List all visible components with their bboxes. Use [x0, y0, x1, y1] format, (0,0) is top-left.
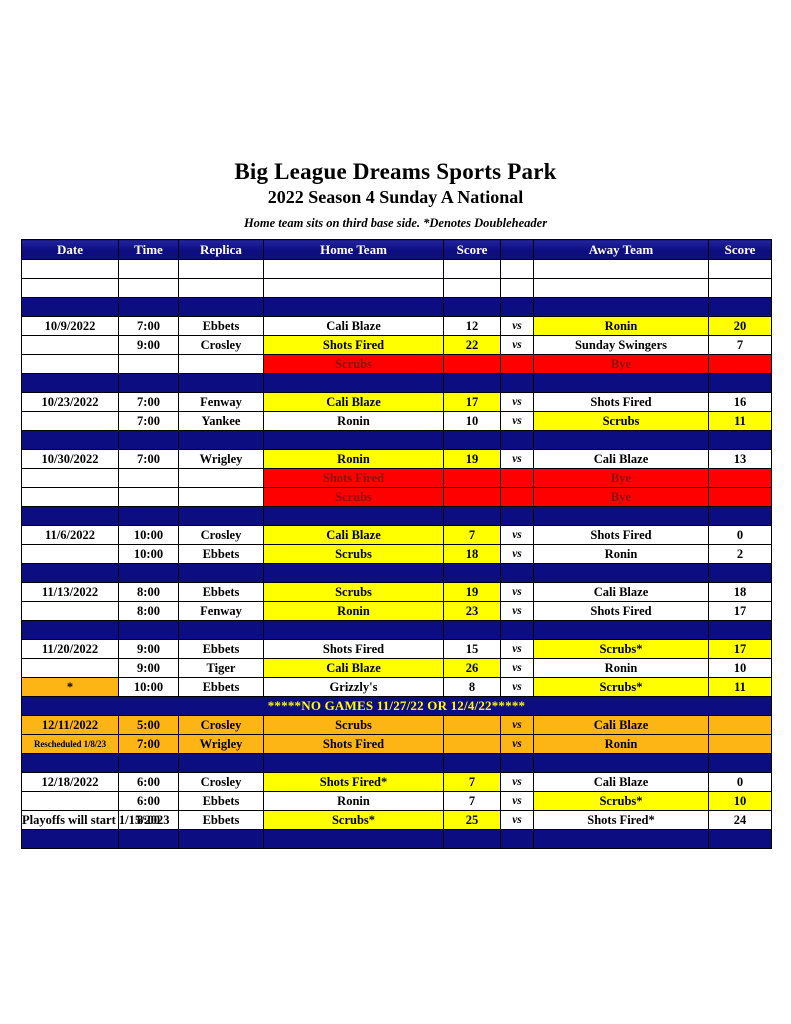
cell-away-team: Cali Blaze	[534, 450, 709, 469]
divider-cell	[709, 507, 772, 526]
divider-cell	[444, 507, 501, 526]
cell-home-score	[444, 488, 501, 507]
table-row: Scrubs Bye	[22, 488, 772, 507]
table-row: 9:00CrosleyShots Fired22vsSunday Swinger…	[22, 336, 772, 355]
cell-date	[22, 469, 119, 488]
cell-home-team: Shots Fired	[264, 735, 444, 754]
cell-home-team: Cali Blaze	[264, 317, 444, 336]
column-header-away-score: Score	[709, 240, 772, 260]
cell-home-score	[444, 355, 501, 374]
cell-replica: Ebbets	[179, 640, 264, 659]
cell-replica: Crosley	[179, 336, 264, 355]
cell-away-score	[709, 469, 772, 488]
cell-vs: vs	[501, 583, 534, 602]
divider-cell	[264, 754, 444, 773]
cell-date: 12/11/2022	[22, 716, 119, 735]
cell-time: 8:00	[119, 602, 179, 621]
cell-away-score: 16	[709, 393, 772, 412]
cell-vs: vs	[501, 450, 534, 469]
cell-away-score: 17	[709, 602, 772, 621]
cell-date	[22, 488, 119, 507]
cell-away-team: Bye	[534, 469, 709, 488]
divider-cell	[22, 298, 119, 317]
cell-vs: vs	[501, 317, 534, 336]
cell-replica: Ebbets	[179, 792, 264, 811]
cell-time: 6:00	[119, 792, 179, 811]
cell-home-score: 12	[444, 317, 501, 336]
table-row: 7:00YankeeRonin10vsScrubs11	[22, 412, 772, 431]
cell-replica: Crosley	[179, 716, 264, 735]
divider-cell	[534, 298, 709, 317]
cell-away-score: 11	[709, 678, 772, 697]
divider-row	[22, 431, 772, 450]
table-row: *10:00EbbetsGrizzly's8vsScrubs*11	[22, 678, 772, 697]
column-header-away-team: Away Team	[534, 240, 709, 260]
cell-away-score	[709, 716, 772, 735]
divider-cell	[119, 298, 179, 317]
table-row: 10/9/20227:00EbbetsCali Blaze12vsRonin20	[22, 317, 772, 336]
cell-away-score: 0	[709, 773, 772, 792]
cell-home-score: 15	[444, 640, 501, 659]
cell-vs: vs	[501, 602, 534, 621]
cell-vs	[501, 469, 534, 488]
cell-away-score	[709, 355, 772, 374]
column-header-time: Time	[119, 240, 179, 260]
page-title: Big League Dreams Sports Park	[0, 158, 791, 185]
blank-cell	[444, 260, 501, 279]
blank-cell	[709, 260, 772, 279]
divider-cell	[501, 431, 534, 450]
divider-cell	[264, 374, 444, 393]
no-games-banner-row: *****NO GAMES 11/27/22 OR 12/4/22*****	[22, 697, 772, 716]
cell-home-score: 7	[444, 773, 501, 792]
divider-cell	[119, 374, 179, 393]
blank-row	[22, 260, 772, 279]
cell-home-score: 7	[444, 792, 501, 811]
divider-cell	[501, 754, 534, 773]
blank-cell	[534, 279, 709, 298]
cell-home-team: Shots Fired	[264, 336, 444, 355]
cell-time: 10:00	[119, 678, 179, 697]
divider-cell	[444, 621, 501, 640]
column-header-date: Date	[22, 240, 119, 260]
table-row: 6:00EbbetsRonin7vsScrubs*10	[22, 792, 772, 811]
cell-home-team: Scrubs	[264, 583, 444, 602]
cell-replica	[179, 469, 264, 488]
divider-cell	[22, 507, 119, 526]
schedule-page: Big League Dreams Sports Park 2022 Seaso…	[0, 0, 791, 1024]
cell-away-score: 20	[709, 317, 772, 336]
cell-away-team: Cali Blaze	[534, 583, 709, 602]
divider-cell	[444, 564, 501, 583]
divider-cell	[264, 431, 444, 450]
blank-cell	[264, 279, 444, 298]
divider-cell	[179, 507, 264, 526]
cell-replica: Tiger	[179, 659, 264, 678]
divider-row	[22, 298, 772, 317]
divider-cell	[22, 564, 119, 583]
table-row: 11/6/202210:00CrosleyCali Blaze7vsShots …	[22, 526, 772, 545]
cell-replica: Wrigley	[179, 735, 264, 754]
cell-vs: vs	[501, 792, 534, 811]
blank-cell	[119, 279, 179, 298]
cell-away-team: Shots Fired	[534, 602, 709, 621]
divider-cell	[444, 298, 501, 317]
cell-home-score: 26	[444, 659, 501, 678]
cell-vs: vs	[501, 735, 534, 754]
cell-time: 7:00	[119, 735, 179, 754]
cell-time: 9:00	[119, 640, 179, 659]
cell-date: Rescheduled 1/8/23	[22, 735, 119, 754]
cell-away-score	[709, 488, 772, 507]
page-header: Big League Dreams Sports Park 2022 Seaso…	[0, 158, 791, 232]
cell-away-score: 24	[709, 811, 772, 830]
blank-cell	[501, 279, 534, 298]
page-subtitle: 2022 Season 4 Sunday A National	[0, 186, 791, 209]
cell-time: 6:00	[119, 773, 179, 792]
cell-time	[119, 469, 179, 488]
cell-date: *	[22, 678, 119, 697]
divider-row	[22, 754, 772, 773]
cell-time: 7:00	[119, 450, 179, 469]
cell-home-score: 25	[444, 811, 501, 830]
blank-cell	[709, 279, 772, 298]
divider-cell	[534, 374, 709, 393]
cell-date: 10/30/2022	[22, 450, 119, 469]
blank-cell	[444, 279, 501, 298]
divider-cell	[119, 507, 179, 526]
cell-home-score	[444, 716, 501, 735]
cell-away-score: 13	[709, 450, 772, 469]
divider-cell	[501, 507, 534, 526]
cell-away-team: Scrubs*	[534, 640, 709, 659]
cell-home-team: Cali Blaze	[264, 526, 444, 545]
table-row: Scrubs Bye	[22, 355, 772, 374]
no-games-banner-text: *****NO GAMES 11/27/22 OR 12/4/22*****	[22, 697, 772, 716]
cell-away-score: 2	[709, 545, 772, 564]
divider-cell	[179, 298, 264, 317]
table-row: 8:00FenwayRonin23vsShots Fired17	[22, 602, 772, 621]
table-row: 12/18/20226:00CrosleyShots Fired*7vsCali…	[22, 773, 772, 792]
table-row: 11/20/20229:00EbbetsShots Fired15vsScrub…	[22, 640, 772, 659]
cell-away-team: Scrubs	[534, 412, 709, 431]
cell-home-score: 17	[444, 393, 501, 412]
divider-cell	[501, 621, 534, 640]
cell-date	[22, 412, 119, 431]
cell-away-team: Shots Fired	[534, 393, 709, 412]
cell-vs	[501, 355, 534, 374]
column-header-vs	[501, 240, 534, 260]
divider-row	[22, 374, 772, 393]
cell-home-team: Scrubs	[264, 488, 444, 507]
cell-home-team: Cali Blaze	[264, 659, 444, 678]
cell-home-team: Ronin	[264, 450, 444, 469]
cell-time: 8:00	[119, 583, 179, 602]
cell-away-score: 10	[709, 792, 772, 811]
cell-vs: vs	[501, 659, 534, 678]
divider-cell	[709, 431, 772, 450]
cell-vs: vs	[501, 545, 534, 564]
blank-cell	[534, 260, 709, 279]
cell-home-team: Cali Blaze	[264, 393, 444, 412]
divider-cell	[709, 621, 772, 640]
divider-cell	[179, 754, 264, 773]
page-note: Home team sits on third base side. *Deno…	[0, 214, 791, 232]
blank-cell	[119, 260, 179, 279]
cell-away-score: 0	[709, 526, 772, 545]
cell-vs: vs	[501, 412, 534, 431]
divider-cell	[119, 830, 179, 849]
cell-replica: Ebbets	[179, 317, 264, 336]
divider-cell	[534, 621, 709, 640]
cell-away-team: Bye	[534, 355, 709, 374]
table-row: 9:00TigerCali Blaze26vsRonin10	[22, 659, 772, 678]
cell-date	[22, 792, 119, 811]
cell-away-score: 10	[709, 659, 772, 678]
cell-home-team: Ronin	[264, 792, 444, 811]
divider-cell	[264, 564, 444, 583]
divider-cell	[119, 431, 179, 450]
cell-time: 5:00	[119, 716, 179, 735]
cell-vs: vs	[501, 773, 534, 792]
cell-date: 12/18/2022	[22, 773, 119, 792]
cell-away-team: Ronin	[534, 317, 709, 336]
cell-date: 10/9/2022	[22, 317, 119, 336]
divider-cell	[22, 374, 119, 393]
cell-date: 11/6/2022	[22, 526, 119, 545]
cell-replica: Crosley	[179, 773, 264, 792]
divider-cell	[444, 754, 501, 773]
cell-date: 10/23/2022	[22, 393, 119, 412]
divider-cell	[501, 564, 534, 583]
cell-vs: vs	[501, 526, 534, 545]
table-row: 12/11/20225:00CrosleyScrubs vsCali Blaze	[22, 716, 772, 735]
divider-cell	[264, 507, 444, 526]
cell-away-score: 11	[709, 412, 772, 431]
divider-cell	[534, 754, 709, 773]
cell-vs	[501, 488, 534, 507]
column-header-home-team: Home Team	[264, 240, 444, 260]
divider-cell	[501, 830, 534, 849]
cell-time: 7:00	[119, 317, 179, 336]
cell-replica: Ebbets	[179, 545, 264, 564]
divider-cell	[264, 621, 444, 640]
cell-home-score	[444, 469, 501, 488]
cell-away-team: Cali Blaze	[534, 773, 709, 792]
cell-home-score: 19	[444, 583, 501, 602]
divider-cell	[179, 621, 264, 640]
cell-home-team: Shots Fired	[264, 640, 444, 659]
divider-cell	[119, 564, 179, 583]
cell-time: 9:00	[119, 659, 179, 678]
divider-cell	[534, 830, 709, 849]
divider-cell	[119, 621, 179, 640]
cell-vs: vs	[501, 678, 534, 697]
cell-replica: Ebbets	[179, 583, 264, 602]
cell-home-score: 7	[444, 526, 501, 545]
cell-home-score: 23	[444, 602, 501, 621]
divider-cell	[22, 621, 119, 640]
schedule-table: Date Time Replica Home Team Score Away T…	[21, 239, 772, 849]
cell-home-team: Ronin	[264, 412, 444, 431]
cell-away-team: Shots Fired	[534, 526, 709, 545]
cell-replica: Fenway	[179, 393, 264, 412]
divider-cell	[534, 564, 709, 583]
cell-date: 11/13/2022	[22, 583, 119, 602]
cell-away-score: 17	[709, 640, 772, 659]
cell-away-score: 18	[709, 583, 772, 602]
divider-cell	[444, 830, 501, 849]
divider-cell	[709, 564, 772, 583]
cell-replica	[179, 355, 264, 374]
divider-cell	[179, 374, 264, 393]
blank-cell	[22, 279, 119, 298]
divider-cell	[534, 507, 709, 526]
table-body: 10/9/20227:00EbbetsCali Blaze12vsRonin20…	[22, 260, 772, 849]
blank-cell	[501, 260, 534, 279]
cell-date	[22, 602, 119, 621]
table-head: Date Time Replica Home Team Score Away T…	[22, 240, 772, 260]
cell-time	[119, 355, 179, 374]
divider-cell	[179, 564, 264, 583]
divider-cell	[264, 298, 444, 317]
cell-home-team: Ronin	[264, 602, 444, 621]
cell-away-team: Ronin	[534, 659, 709, 678]
cell-replica: Yankee	[179, 412, 264, 431]
table-row: Shots Fired Bye	[22, 469, 772, 488]
cell-vs: vs	[501, 716, 534, 735]
cell-away-team: Ronin	[534, 545, 709, 564]
cell-home-score	[444, 735, 501, 754]
divider-cell	[119, 754, 179, 773]
table-row: Rescheduled 1/8/237:00WrigleyShots Fired…	[22, 735, 772, 754]
cell-time: 7:00	[119, 393, 179, 412]
divider-cell	[709, 298, 772, 317]
cell-date: 11/20/2022	[22, 640, 119, 659]
cell-time	[119, 488, 179, 507]
divider-cell	[444, 374, 501, 393]
cell-time: 7:00	[119, 412, 179, 431]
divider-cell	[501, 298, 534, 317]
cell-replica: Fenway	[179, 602, 264, 621]
cell-away-team: Scrubs*	[534, 792, 709, 811]
divider-cell	[709, 830, 772, 849]
cell-replica: Ebbets	[179, 678, 264, 697]
cell-home-team: Shots Fired*	[264, 773, 444, 792]
cell-home-score: 22	[444, 336, 501, 355]
cell-home-score: 8	[444, 678, 501, 697]
cell-replica	[179, 488, 264, 507]
divider-cell	[22, 431, 119, 450]
cell-away-team: Cali Blaze	[534, 716, 709, 735]
blank-row	[22, 279, 772, 298]
cell-date	[22, 355, 119, 374]
table-row: 10/23/20227:00FenwayCali Blaze17vsShots …	[22, 393, 772, 412]
cell-time: 10:00	[119, 545, 179, 564]
divider-cell	[501, 374, 534, 393]
divider-row	[22, 507, 772, 526]
cell-vs: vs	[501, 336, 534, 355]
divider-cell	[709, 374, 772, 393]
cell-home-team: Scrubs	[264, 716, 444, 735]
cell-home-team: Scrubs	[264, 545, 444, 564]
schedule-table-container: Date Time Replica Home Team Score Away T…	[21, 239, 771, 849]
cell-date	[22, 545, 119, 564]
table-row: 10/30/20227:00WrigleyRonin19vsCali Blaze…	[22, 450, 772, 469]
divider-cell	[709, 754, 772, 773]
table-row: 10:00EbbetsScrubs18vsRonin2	[22, 545, 772, 564]
cell-date	[22, 336, 119, 355]
cell-home-team: Scrubs*	[264, 811, 444, 830]
cell-away-team: Shots Fired*	[534, 811, 709, 830]
divider-cell	[264, 830, 444, 849]
cell-home-score: 19	[444, 450, 501, 469]
blank-cell	[179, 260, 264, 279]
cell-away-team: Sunday Swingers	[534, 336, 709, 355]
cell-home-score: 10	[444, 412, 501, 431]
blank-cell	[264, 260, 444, 279]
cell-vs: vs	[501, 640, 534, 659]
divider-row	[22, 830, 772, 849]
cell-home-team: Shots Fired	[264, 469, 444, 488]
divider-cell	[22, 754, 119, 773]
cell-vs: vs	[501, 811, 534, 830]
cell-time: 9:00	[119, 336, 179, 355]
cell-vs: vs	[501, 393, 534, 412]
divider-row	[22, 564, 772, 583]
header-row: Date Time Replica Home Team Score Away T…	[22, 240, 772, 260]
cell-home-team: Grizzly's	[264, 678, 444, 697]
divider-cell	[179, 431, 264, 450]
cell-away-score	[709, 735, 772, 754]
column-header-replica: Replica	[179, 240, 264, 260]
blank-cell	[22, 260, 119, 279]
cell-time: 10:00	[119, 526, 179, 545]
cell-replica: Ebbets	[179, 811, 264, 830]
cell-home-score: 18	[444, 545, 501, 564]
cell-away-team: Scrubs*	[534, 678, 709, 697]
cell-home-team: Scrubs	[264, 355, 444, 374]
divider-cell	[179, 830, 264, 849]
cell-away-score: 7	[709, 336, 772, 355]
divider-cell	[444, 431, 501, 450]
cell-replica: Crosley	[179, 526, 264, 545]
divider-row	[22, 621, 772, 640]
divider-cell	[534, 431, 709, 450]
cell-away-team: Ronin	[534, 735, 709, 754]
blank-cell	[179, 279, 264, 298]
cell-away-team: Bye	[534, 488, 709, 507]
column-header-home-score: Score	[444, 240, 501, 260]
table-row: 11/13/20228:00EbbetsScrubs19vsCali Blaze…	[22, 583, 772, 602]
playoffs-note: Playoffs will start 1/15/2023	[22, 812, 170, 828]
cell-replica: Wrigley	[179, 450, 264, 469]
cell-date	[22, 659, 119, 678]
divider-cell	[22, 830, 119, 849]
